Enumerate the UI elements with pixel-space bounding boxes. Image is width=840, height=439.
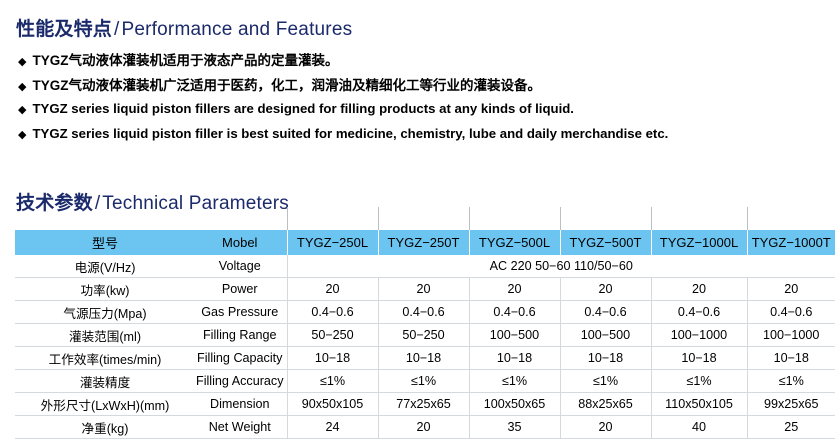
row-value-1: 20 xyxy=(287,278,378,301)
row-value-4: 20 xyxy=(560,416,651,439)
row-label-en: Filling Range xyxy=(185,324,287,347)
list-item: ◆ TYGZ series liquid piston filler is be… xyxy=(18,122,668,147)
row-label-en: Net Weight xyxy=(185,416,287,439)
list-item-text: TYGZ series liquid piston filler is best… xyxy=(32,122,668,145)
list-item-text: TYGZ series liquid piston fillers are de… xyxy=(32,97,574,120)
row-value-5: 0.4−0.6 xyxy=(651,301,747,324)
list-item-text: TYGZ气动液体灌装机适用于液态产品的定量灌装。 xyxy=(32,49,338,72)
row-value-6: 10−18 xyxy=(747,347,835,370)
row-value-3: ≤1% xyxy=(469,370,560,393)
row-value-1: 50−250 xyxy=(287,324,378,347)
row-value-5: 20 xyxy=(651,278,747,301)
row-label-en: Power xyxy=(185,278,287,301)
row-value-4: ≤1% xyxy=(560,370,651,393)
row-value-4: 88x25x65 xyxy=(560,393,651,416)
row-value-4: 20 xyxy=(560,278,651,301)
row-value-5: 100−1000 xyxy=(651,324,747,347)
column-header-model-en: Mobel xyxy=(185,230,287,255)
diamond-bullet-icon: ◆ xyxy=(18,99,26,122)
row-value-4: 0.4−0.6 xyxy=(560,301,651,324)
row-value-6: 0.4−0.6 xyxy=(747,301,835,324)
list-item-text: TYGZ气动液体灌装机广泛适用于医药，化工，润滑油及精细化工等行业的灌装设备。 xyxy=(32,74,541,97)
row-value-spanning: AC 220 50−60 110/50−60 xyxy=(287,255,835,278)
tick-spacer xyxy=(15,207,185,230)
row-value-5: 10−18 xyxy=(651,347,747,370)
row-value-2: 0.4−0.6 xyxy=(378,301,469,324)
row-value-6: 25 xyxy=(747,416,835,439)
features-heading-separator: / xyxy=(112,19,121,40)
row-label-cn: 外形尺寸(LxWxH)(mm) xyxy=(15,393,185,416)
row-value-6: 20 xyxy=(747,278,835,301)
row-value-2: 20 xyxy=(378,278,469,301)
row-value-3: 35 xyxy=(469,416,560,439)
row-value-2: 20 xyxy=(378,416,469,439)
row-label-en: Filling Accuracy xyxy=(185,370,287,393)
features-list-chinese: ◆ TYGZ气动液体灌装机适用于液态产品的定量灌装。 ◆ TYGZ气动液体灌装机… xyxy=(18,49,541,99)
table-row: 净重(kg)Net Weight242035204025 xyxy=(15,416,835,439)
spec-table-container: 型号MobelTYGZ−250LTYGZ−250TTYGZ−500LTYGZ−5… xyxy=(15,207,835,439)
row-value-1: 10−18 xyxy=(287,347,378,370)
column-tick-mark xyxy=(560,207,651,230)
column-header-model-2: TYGZ−250T xyxy=(378,230,469,255)
table-row: 灌装精度Filling Accuracy≤1%≤1%≤1%≤1%≤1%≤1% xyxy=(15,370,835,393)
row-value-5: 110x50x105 xyxy=(651,393,747,416)
row-label-en: Dimension xyxy=(185,393,287,416)
row-value-4: 100−500 xyxy=(560,324,651,347)
row-value-2: 50−250 xyxy=(378,324,469,347)
row-value-5: ≤1% xyxy=(651,370,747,393)
row-value-6: 99x25x65 xyxy=(747,393,835,416)
row-label-cn: 工作效率(times/min) xyxy=(15,347,185,370)
row-value-3: 10−18 xyxy=(469,347,560,370)
column-header-model-4: TYGZ−500T xyxy=(560,230,651,255)
features-section-heading: 性能及特点/Performance and Features xyxy=(16,14,352,41)
row-value-5: 40 xyxy=(651,416,747,439)
column-header-model-3: TYGZ−500L xyxy=(469,230,560,255)
column-header-model-5: TYGZ−1000L xyxy=(651,230,747,255)
column-header-model-cn: 型号 xyxy=(15,230,185,255)
row-value-1: ≤1% xyxy=(287,370,378,393)
table-row: 气源压力(Mpa)Gas Pressure0.4−0.60.4−0.60.4−0… xyxy=(15,301,835,324)
table-row: 工作效率(times/min)Filling Capacity10−1810−1… xyxy=(15,347,835,370)
list-item: ◆ TYGZ气动液体灌装机广泛适用于医药，化工，润滑油及精细化工等行业的灌装设备… xyxy=(18,74,541,99)
row-value-4: 10−18 xyxy=(560,347,651,370)
features-list-english: ◆ TYGZ series liquid piston fillers are … xyxy=(18,97,668,147)
column-tick-mark xyxy=(469,207,560,230)
column-tick-mark xyxy=(651,207,747,230)
table-row: 灌装范围(ml)Filling Range50−25050−250100−500… xyxy=(15,324,835,347)
diamond-bullet-icon: ◆ xyxy=(18,51,26,74)
row-value-2: ≤1% xyxy=(378,370,469,393)
row-value-3: 0.4−0.6 xyxy=(469,301,560,324)
column-tick-mark xyxy=(378,207,469,230)
row-label-cn: 气源压力(Mpa) xyxy=(15,301,185,324)
row-value-3: 20 xyxy=(469,278,560,301)
diamond-bullet-icon: ◆ xyxy=(18,76,26,99)
table-row: 功率(kw)Power202020202020 xyxy=(15,278,835,301)
row-value-1: 24 xyxy=(287,416,378,439)
list-item: ◆ TYGZ series liquid piston fillers are … xyxy=(18,97,668,122)
table-row: 电源(V/Hz)VoltageAC 220 50−60 110/50−60 xyxy=(15,255,835,278)
table-tick-row xyxy=(15,207,835,230)
row-label-cn: 电源(V/Hz) xyxy=(15,255,185,278)
column-header-model-6: TYGZ−1000T xyxy=(747,230,835,255)
features-heading-en: Performance and Features xyxy=(122,19,353,40)
column-header-model-1: TYGZ−250L xyxy=(287,230,378,255)
diamond-bullet-icon: ◆ xyxy=(18,124,26,147)
row-label-cn: 灌装范围(ml) xyxy=(15,324,185,347)
list-item: ◆ TYGZ气动液体灌装机适用于液态产品的定量灌装。 xyxy=(18,49,541,74)
row-value-3: 100x50x65 xyxy=(469,393,560,416)
table-header-row: 型号MobelTYGZ−250LTYGZ−250TTYGZ−500LTYGZ−5… xyxy=(15,230,835,255)
row-value-6: ≤1% xyxy=(747,370,835,393)
row-label-en: Gas Pressure xyxy=(185,301,287,324)
row-value-2: 10−18 xyxy=(378,347,469,370)
technical-parameters-table: 型号MobelTYGZ−250LTYGZ−250TTYGZ−500LTYGZ−5… xyxy=(15,207,835,439)
column-tick-mark xyxy=(747,207,835,230)
row-label-en: Voltage xyxy=(185,255,287,278)
row-value-6: 100−1000 xyxy=(747,324,835,347)
row-value-2: 77x25x65 xyxy=(378,393,469,416)
row-value-3: 100−500 xyxy=(469,324,560,347)
row-label-cn: 灌装精度 xyxy=(15,370,185,393)
row-label-cn: 净重(kg) xyxy=(15,416,185,439)
features-heading-cn: 性能及特点 xyxy=(16,19,112,40)
row-label-cn: 功率(kw) xyxy=(15,278,185,301)
tick-spacer xyxy=(185,207,287,230)
row-value-1: 0.4−0.6 xyxy=(287,301,378,324)
row-label-en: Filling Capacity xyxy=(185,347,287,370)
row-value-1: 90x50x105 xyxy=(287,393,378,416)
table-row: 外形尺寸(LxWxH)(mm)Dimension90x50x10577x25x6… xyxy=(15,393,835,416)
column-tick-mark xyxy=(287,207,378,230)
